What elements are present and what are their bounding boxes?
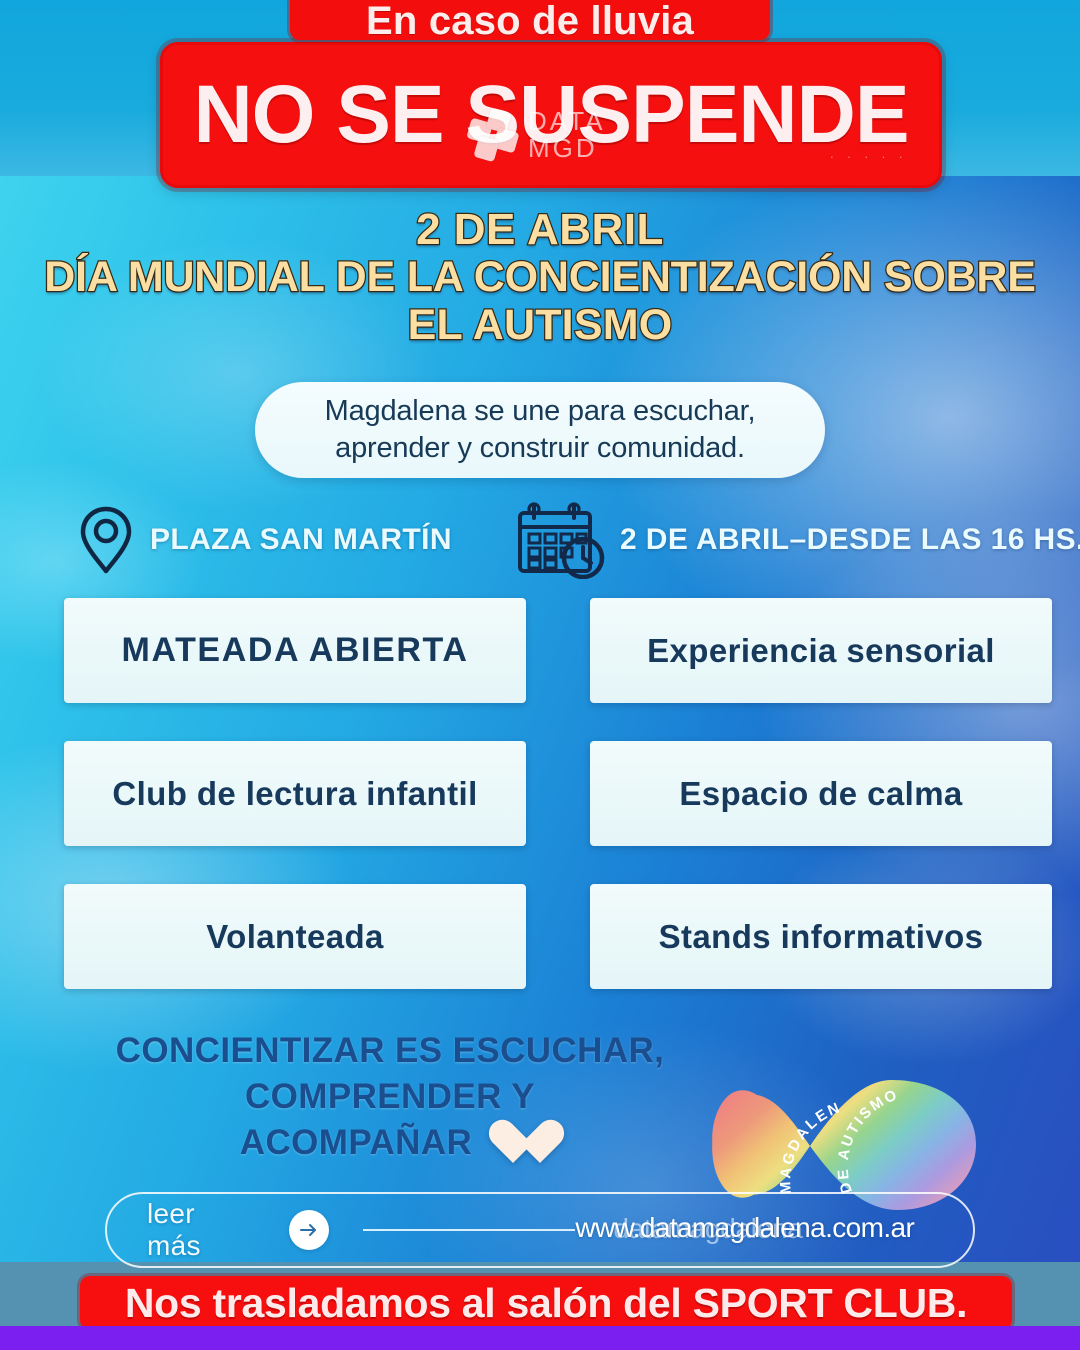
- event-date: 2 DE ABRIL–DESDE LAS 16 HS.: [512, 501, 1080, 579]
- activity-card-label: Stands informativos: [659, 918, 984, 956]
- slogan-line-3: ACOMPAÑAR: [240, 1120, 472, 1166]
- read-more-label: leer más: [147, 1198, 249, 1262]
- divider-rule: [363, 1229, 575, 1231]
- subtitle-line-2: aprender y construir comunidad.: [335, 430, 745, 467]
- event-location: PLAZA SAN MARTÍN: [78, 505, 452, 575]
- rain-notice-small-text: En caso de lluvia: [366, 3, 694, 40]
- activity-card[interactable]: Espacio de calma: [590, 741, 1052, 846]
- read-more-bar[interactable]: leer más datamagdalena www.datamagdalena…: [105, 1192, 975, 1268]
- location-pin-icon: [78, 505, 134, 575]
- headline-line-1: 2 DE ABRIL: [0, 206, 1080, 254]
- calendar-clock-icon: [512, 501, 608, 579]
- event-date-label: 2 DE ABRIL–DESDE LAS 16 HS.: [620, 523, 1080, 557]
- page-title: 2 DE ABRIL DÍA MUNDIAL DE LA CONCIENTIZA…: [0, 206, 1080, 349]
- relocation-banner: Nos trasladamos al salón del SPORT CLUB.: [80, 1276, 1012, 1330]
- activity-card[interactable]: Experiencia sensorial: [590, 598, 1052, 703]
- arrow-right-icon[interactable]: [289, 1210, 329, 1250]
- heart-icon: [488, 1119, 540, 1167]
- activity-card[interactable]: Stands informativos: [590, 884, 1052, 989]
- site-url[interactable]: www.datamagdalena.com.ar: [575, 1212, 939, 1244]
- activity-card-label: Espacio de calma: [679, 775, 962, 813]
- headline-line-2: DÍA MUNDIAL DE LA CONCIENTIZACIÓN SOBRE: [0, 254, 1080, 301]
- activity-card[interactable]: MATEADA ABIERTA: [64, 598, 526, 703]
- subtitle-bubble: Magdalena se une para escuchar, aprender…: [255, 382, 825, 478]
- relocation-banner-text: Nos trasladamos al salón del SPORT CLUB.: [125, 1280, 967, 1327]
- activity-card-label: Experiencia sensorial: [647, 632, 995, 670]
- slogan-line-1: CONCIENTIZAR ES ESCUCHAR,: [110, 1028, 670, 1074]
- activity-card[interactable]: Club de lectura infantil: [64, 741, 526, 846]
- rain-notice-small-banner: En caso de lluvia: [290, 0, 770, 40]
- site-url-group: datamagdalena www.datamagdalena.com.ar: [575, 1208, 939, 1252]
- headline-line-3: EL AUTISMO: [0, 302, 1080, 349]
- logo-text-left: HABLEMOS: [692, 1059, 695, 1169]
- subtitle-line-1: Magdalena se une para escuchar,: [325, 393, 756, 430]
- slogan-block: CONCIENTIZAR ES ESCUCHAR, COMPRENDER Y A…: [110, 1028, 670, 1167]
- activity-card-label: Volanteada: [206, 918, 384, 956]
- activities-grid: MATEADA ABIERTA Experiencia sensorial Cl…: [64, 598, 1052, 989]
- poster-root: En caso de lluvia NO SE SUSPENDE DATA MG…: [0, 0, 1080, 1350]
- activity-card-label: Club de lectura infantil: [112, 775, 477, 813]
- rain-notice-big-banner: NO SE SUSPENDE: [160, 42, 942, 188]
- activity-card[interactable]: Volanteada: [64, 884, 526, 989]
- slogan-line-2: COMPRENDER Y: [110, 1074, 670, 1120]
- slogan-line-3-row: ACOMPAÑAR: [110, 1119, 670, 1167]
- footer-purple-strip: [0, 1326, 1080, 1350]
- event-location-label: PLAZA SAN MARTÍN: [150, 523, 452, 557]
- event-info-row: PLAZA SAN MARTÍN 2 DE ABRIL–DESDE: [0, 498, 1080, 582]
- rain-notice-big-text: NO SE SUSPENDE: [193, 68, 908, 162]
- watermark-dots: . . . . .: [830, 146, 908, 161]
- activity-card-label: MATEADA ABIERTA: [122, 631, 469, 670]
